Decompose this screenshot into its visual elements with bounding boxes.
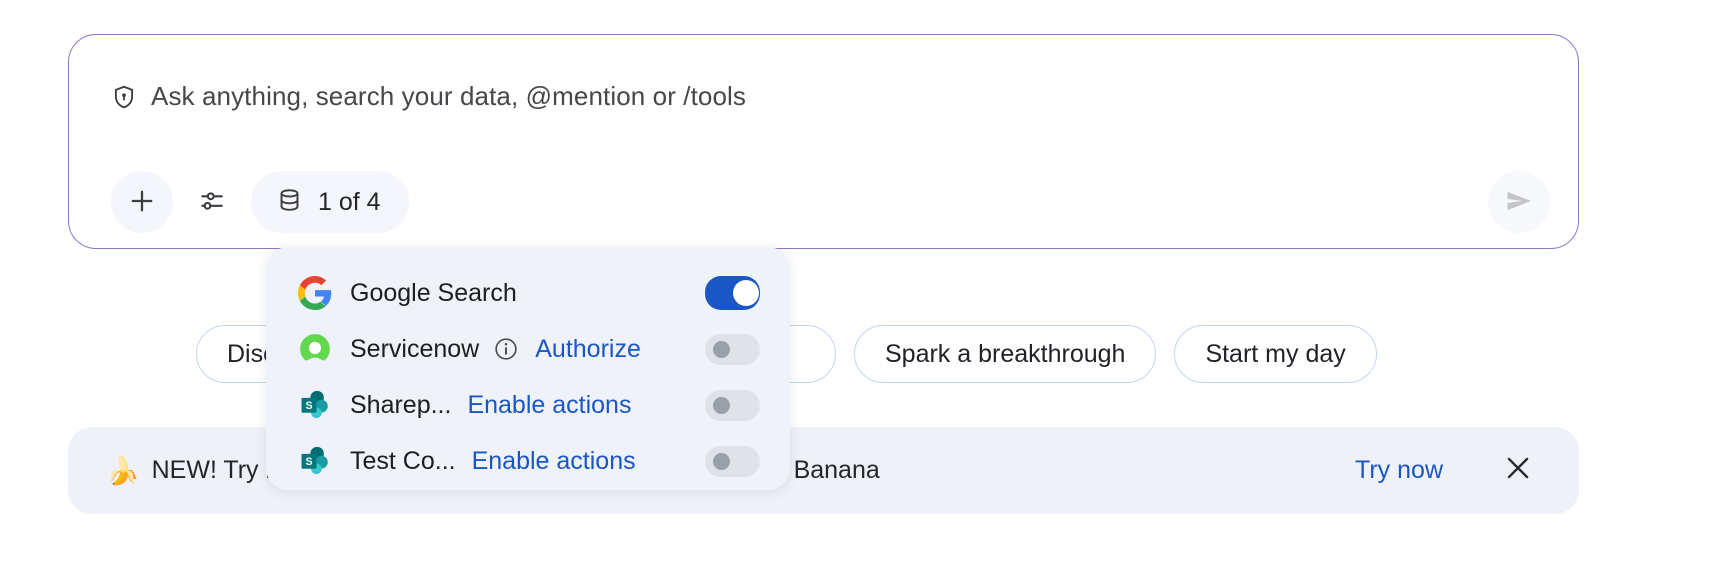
sharepoint-logo-icon: S: [298, 388, 332, 422]
dropdown-row-action-link[interactable]: Authorize: [535, 335, 641, 364]
banana-emoji-icon: 🍌: [106, 455, 140, 487]
composer-placeholder-text: Ask anything, search your data, @mention…: [151, 81, 746, 112]
data-sources-chip[interactable]: 1 of 4: [251, 171, 409, 233]
dropdown-row-toggle[interactable]: [705, 446, 760, 477]
promo-try-now-link[interactable]: Try now: [1355, 456, 1443, 485]
dropdown-row-label: Servicenow: [350, 335, 479, 364]
sharepoint-logo-icon: S: [298, 444, 332, 478]
dropdown-row-toggle[interactable]: [705, 390, 760, 421]
svg-text:S: S: [305, 400, 312, 412]
add-attachment-button[interactable]: [111, 171, 173, 233]
promo-close-button[interactable]: [1501, 454, 1535, 488]
plus-icon: [127, 186, 157, 219]
dropdown-row-toggle[interactable]: [705, 334, 760, 365]
toggle-knob: [713, 453, 730, 470]
composer-box[interactable]: Ask anything, search your data, @mention…: [68, 34, 1579, 249]
dropdown-row-label: Test Co...: [350, 447, 456, 476]
composer-placeholder-row[interactable]: Ask anything, search your data, @mention…: [111, 81, 746, 112]
send-button[interactable]: [1488, 171, 1550, 233]
dropdown-row-sharepoint[interactable]: S Sharep... Enable actions: [266, 377, 790, 433]
dropdown-row-test-connector[interactable]: S Test Co... Enable actions: [266, 433, 790, 489]
svg-text:S: S: [305, 456, 312, 468]
data-sources-chip-label: 1 of 4: [318, 188, 381, 217]
suggestion-chip[interactable]: Spark a breakthrough: [854, 325, 1156, 383]
screen: Ask anything, search your data, @mention…: [0, 0, 1726, 584]
dropdown-row-action-link[interactable]: Enable actions: [472, 447, 636, 476]
tune-icon: [197, 186, 227, 219]
toggle-knob: [713, 397, 730, 414]
close-icon: [1502, 452, 1534, 489]
shield-lock-icon: [111, 84, 137, 110]
composer-toolbar: 1 of 4: [111, 171, 409, 233]
dropdown-row-google-search[interactable]: Google Search: [266, 265, 790, 321]
google-logo-icon: [298, 276, 332, 310]
suggestion-chip-label: Spark a breakthrough: [885, 340, 1125, 369]
toggle-knob: [733, 280, 759, 306]
servicenow-logo-icon: [298, 332, 332, 366]
info-icon[interactable]: [493, 336, 519, 362]
suggestion-chip[interactable]: Start my day: [1174, 325, 1376, 383]
suggestion-chip-label: Start my day: [1205, 340, 1345, 369]
dropdown-row-action-link[interactable]: Enable actions: [467, 391, 631, 420]
tune-settings-button[interactable]: [181, 171, 243, 233]
dropdown-row-label: Google Search: [350, 279, 517, 308]
send-icon: [1503, 185, 1535, 220]
dropdown-row-toggle[interactable]: [705, 276, 760, 310]
database-icon: [275, 186, 304, 218]
dropdown-row-servicenow[interactable]: Servicenow Authorize: [266, 321, 790, 377]
data-sources-dropdown: Google Search Servicenow: [266, 247, 790, 490]
dropdown-row-label: Sharep...: [350, 391, 451, 420]
toggle-knob: [713, 341, 730, 358]
